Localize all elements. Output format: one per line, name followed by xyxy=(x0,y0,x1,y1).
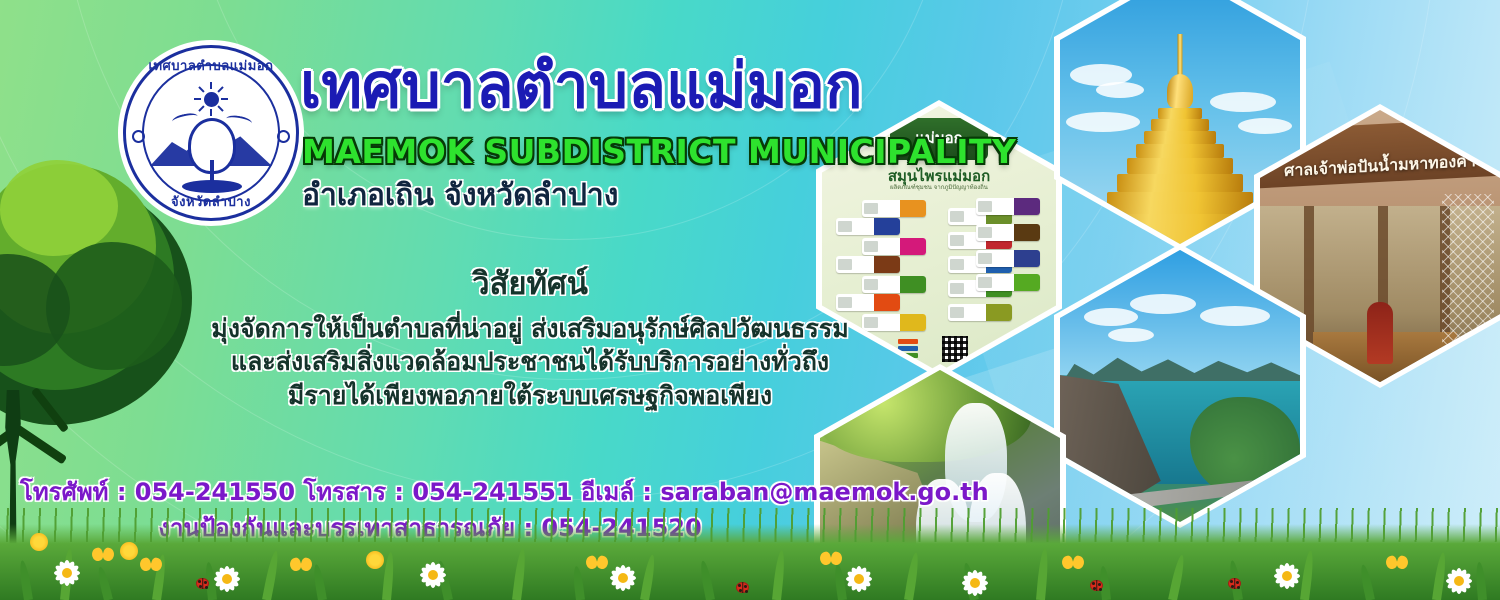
daisy-flower xyxy=(1446,568,1472,594)
daisy-flower xyxy=(610,565,636,591)
daisy-flower xyxy=(420,562,446,588)
rosette-icon xyxy=(132,130,145,143)
butterfly-icon xyxy=(1062,556,1084,572)
ladybug-icon xyxy=(1228,578,1241,589)
daisy-flower xyxy=(962,570,988,596)
butterfly-icon xyxy=(820,552,842,568)
dandelion-flower xyxy=(120,542,138,560)
ladybug-icon xyxy=(736,582,749,593)
contact-line-primary[interactable]: โทรศัพท์ : 054-241550 โทรสาร : 054-24155… xyxy=(20,474,840,510)
dandelion-flower xyxy=(30,533,48,551)
seal-top-text: เทศบาลตำบลแม่มอก xyxy=(118,55,304,76)
daisy-flower xyxy=(846,566,872,592)
vision-title: วิสัยทัศน์ xyxy=(180,258,880,308)
organization-name-english: MAEMOK SUBDISTRICT MUNICIPALITY xyxy=(302,132,1016,171)
butterfly-icon xyxy=(586,556,608,572)
vision-line: มีรายได้เพียงพอภายใต้ระบบเศรษฐกิจพอเพียง xyxy=(180,379,880,412)
municipality-banner: แม่มอก สมุนไพรแม่มอก ผลิตภัณฑ์ชุมชน จากภ… xyxy=(0,0,1500,600)
vision-line: และส่งเสริมสิ่งแวดล้อมประชาชนได้รับบริกา… xyxy=(180,345,880,378)
sun-icon xyxy=(204,92,219,107)
butterfly-icon xyxy=(92,548,114,564)
vision-line: มุ่งจัดการให้เป็นตำบลที่น่าอยู่ ส่งเสริม… xyxy=(180,312,880,345)
butterfly-icon xyxy=(1386,556,1408,572)
daisy-flower xyxy=(1274,563,1300,589)
daisy-flower xyxy=(214,566,240,592)
butterfly-icon xyxy=(140,558,162,574)
daisy-flower xyxy=(54,560,80,586)
seal-bottom-text: จังหวัดลำปาง xyxy=(118,191,304,212)
dandelion-flower xyxy=(366,551,384,569)
shrine-idol xyxy=(1367,302,1393,364)
municipality-seal-logo: เทศบาลตำบลแม่มอก จังหวัดลำปาง xyxy=(118,40,304,226)
organization-name-thai: เทศบาลตำบลแม่มอก xyxy=(300,55,862,117)
herbal-poster-subtitle: ผลิตภัณฑ์ชุมชน จากภูมิปัญญาท้องถิ่น xyxy=(822,182,1056,192)
rosette-icon xyxy=(277,130,290,143)
ladybug-icon xyxy=(1090,580,1103,591)
vision-block: วิสัยทัศน์ มุ่งจัดการให้เป็นตำบลที่น่าอย… xyxy=(180,258,880,412)
butterfly-icon xyxy=(290,558,312,574)
ladybug-icon xyxy=(196,578,209,589)
location-subtitle: อำเภอเถิน จังหวัดลำปาง xyxy=(302,172,618,219)
